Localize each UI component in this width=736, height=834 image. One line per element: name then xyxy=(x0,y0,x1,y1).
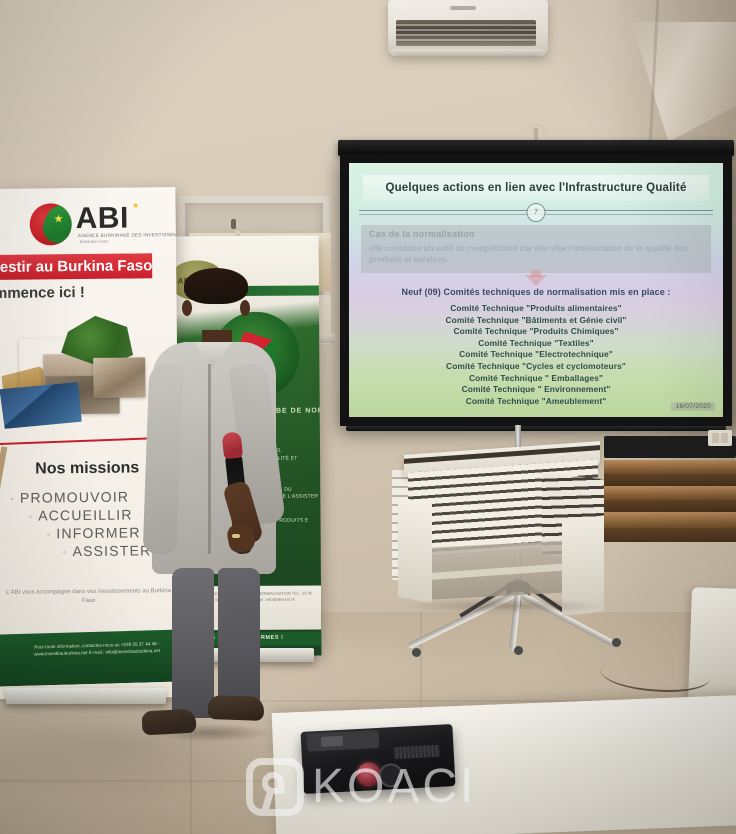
slide-title: Quelques actions en lien avec l'Infrastr… xyxy=(385,182,686,194)
abi-mission-label: ASSISTER xyxy=(72,542,151,559)
abi-mission-label: INFORMER xyxy=(56,524,140,541)
table-shadow xyxy=(404,598,604,614)
collage-equipment-photo xyxy=(93,357,145,398)
committee-item: Comité Technique "Produits alimentaires" xyxy=(349,303,723,315)
stair-tread xyxy=(604,486,736,500)
projector-button xyxy=(321,736,343,747)
abi-logo-mark: ★ xyxy=(29,203,71,245)
abi-mission-label: PROMOUVOIR xyxy=(20,489,129,506)
abi-logo: ★ ABI AGENCE BURKINABÈ DES INVESTISSEMEN… xyxy=(29,201,139,246)
outlet-socket xyxy=(721,433,728,443)
committee-item: Comité Technique " Environnement" xyxy=(349,384,723,396)
stair-riser xyxy=(604,500,736,512)
abi-tagline: commence ici ! xyxy=(0,284,85,302)
committee-item: Comité Technique " Emballages" xyxy=(349,373,723,385)
koaci-watermark-text: KOACI xyxy=(312,761,476,813)
stair-riser xyxy=(604,474,736,486)
down-arrow-icon xyxy=(525,275,547,286)
slide-section-body: elle constitue un outil de compétitivité… xyxy=(369,243,705,265)
tripod-foot xyxy=(412,648,421,657)
abi-mission-label: ACCUEILLIR xyxy=(38,507,133,524)
slide-number-badge: 7 xyxy=(527,203,546,222)
abi-logo-dot xyxy=(133,203,137,207)
abi-photo-collage xyxy=(0,313,160,430)
presenter-right-shoe xyxy=(208,695,265,721)
committee-item: Comité Technique "Bâtiments et Génie civ… xyxy=(349,315,723,327)
abi-logo-star: ★ xyxy=(54,214,64,225)
abi-logo-text: ABI xyxy=(75,204,128,235)
committee-item: Comité Technique "Electrotechnique" xyxy=(349,349,723,361)
window-latch xyxy=(231,219,236,229)
presenter-ear xyxy=(240,300,250,316)
committee-item: Comité Technique "Ameublement" xyxy=(349,396,723,408)
presenter xyxy=(146,272,276,742)
presenter-shadow xyxy=(152,724,272,742)
photo-scene: ABNORM AGENCE BURKINABE DE NORMALISATION… xyxy=(0,0,736,834)
stair-tread xyxy=(604,512,736,528)
collage-solar-photo xyxy=(0,382,82,429)
slide-section-heading: Cas de la normalisation xyxy=(369,229,475,239)
slide-date-stamp: 16/07/2020 xyxy=(671,402,715,411)
ac-lip xyxy=(392,49,544,56)
presenter-shirt-placket xyxy=(208,364,211,554)
wall-outlet xyxy=(708,430,732,446)
ac-badge xyxy=(450,6,476,10)
committee-item: Comité Technique "Textiles" xyxy=(349,338,723,350)
slide-canvas: Quelques actions en lien avec l'Infrastr… xyxy=(349,163,723,417)
slide-lead-line: Neuf (09) Comités techniques de normalis… xyxy=(349,287,723,297)
abi-headline: Investir au Burkina Faso xyxy=(0,257,152,276)
screen-bottom-bar xyxy=(346,426,726,431)
presenter-left-sleeve xyxy=(143,363,184,554)
tripod-foot xyxy=(514,646,523,655)
microphone-head xyxy=(222,431,244,459)
draped-table xyxy=(404,448,600,608)
abi-logo-subtitle2: BURKINA FASO xyxy=(80,240,109,244)
presenter-legs xyxy=(170,568,262,716)
stair-tread xyxy=(604,460,736,474)
abi-contact-info: Pour toute information, contactez-nous a… xyxy=(32,640,162,658)
projection-screen: Quelques actions en lien avec l'Infrastr… xyxy=(338,140,734,430)
tripod-foot xyxy=(612,638,621,647)
koaci-logo-mark-icon xyxy=(246,758,304,816)
abi-banner-base xyxy=(6,688,166,704)
outlet-socket xyxy=(712,433,719,443)
slide-title-bar: Quelques actions en lien avec l'Infrastr… xyxy=(363,175,709,201)
presenter-ear xyxy=(182,300,192,316)
slide-committee-list: Comité Technique "Produits alimentaires"… xyxy=(349,303,723,407)
air-conditioner xyxy=(388,0,548,56)
presenter-ring xyxy=(232,534,240,538)
committee-item: Comité Technique "Cycles et cyclomoteurs… xyxy=(349,361,723,373)
abi-headline-bar: Investir au Burkina Faso xyxy=(0,253,152,280)
committee-item: Comité Technique "Produits Chimiques" xyxy=(349,326,723,338)
koaci-watermark: KOACI xyxy=(246,756,496,822)
slide-grey-panel: Cas de la normalisation elle constitue u… xyxy=(361,225,711,273)
stair-riser xyxy=(604,528,736,542)
presenter-left-leg xyxy=(172,568,214,718)
ac-vent xyxy=(396,20,536,46)
screen-frame: Quelques actions en lien avec l'Infrastr… xyxy=(340,154,732,426)
table-cloth-left xyxy=(398,497,432,603)
abi-logo-subtitle: AGENCE BURKINABÈ DES INVESTISSEMENTS xyxy=(78,232,181,238)
